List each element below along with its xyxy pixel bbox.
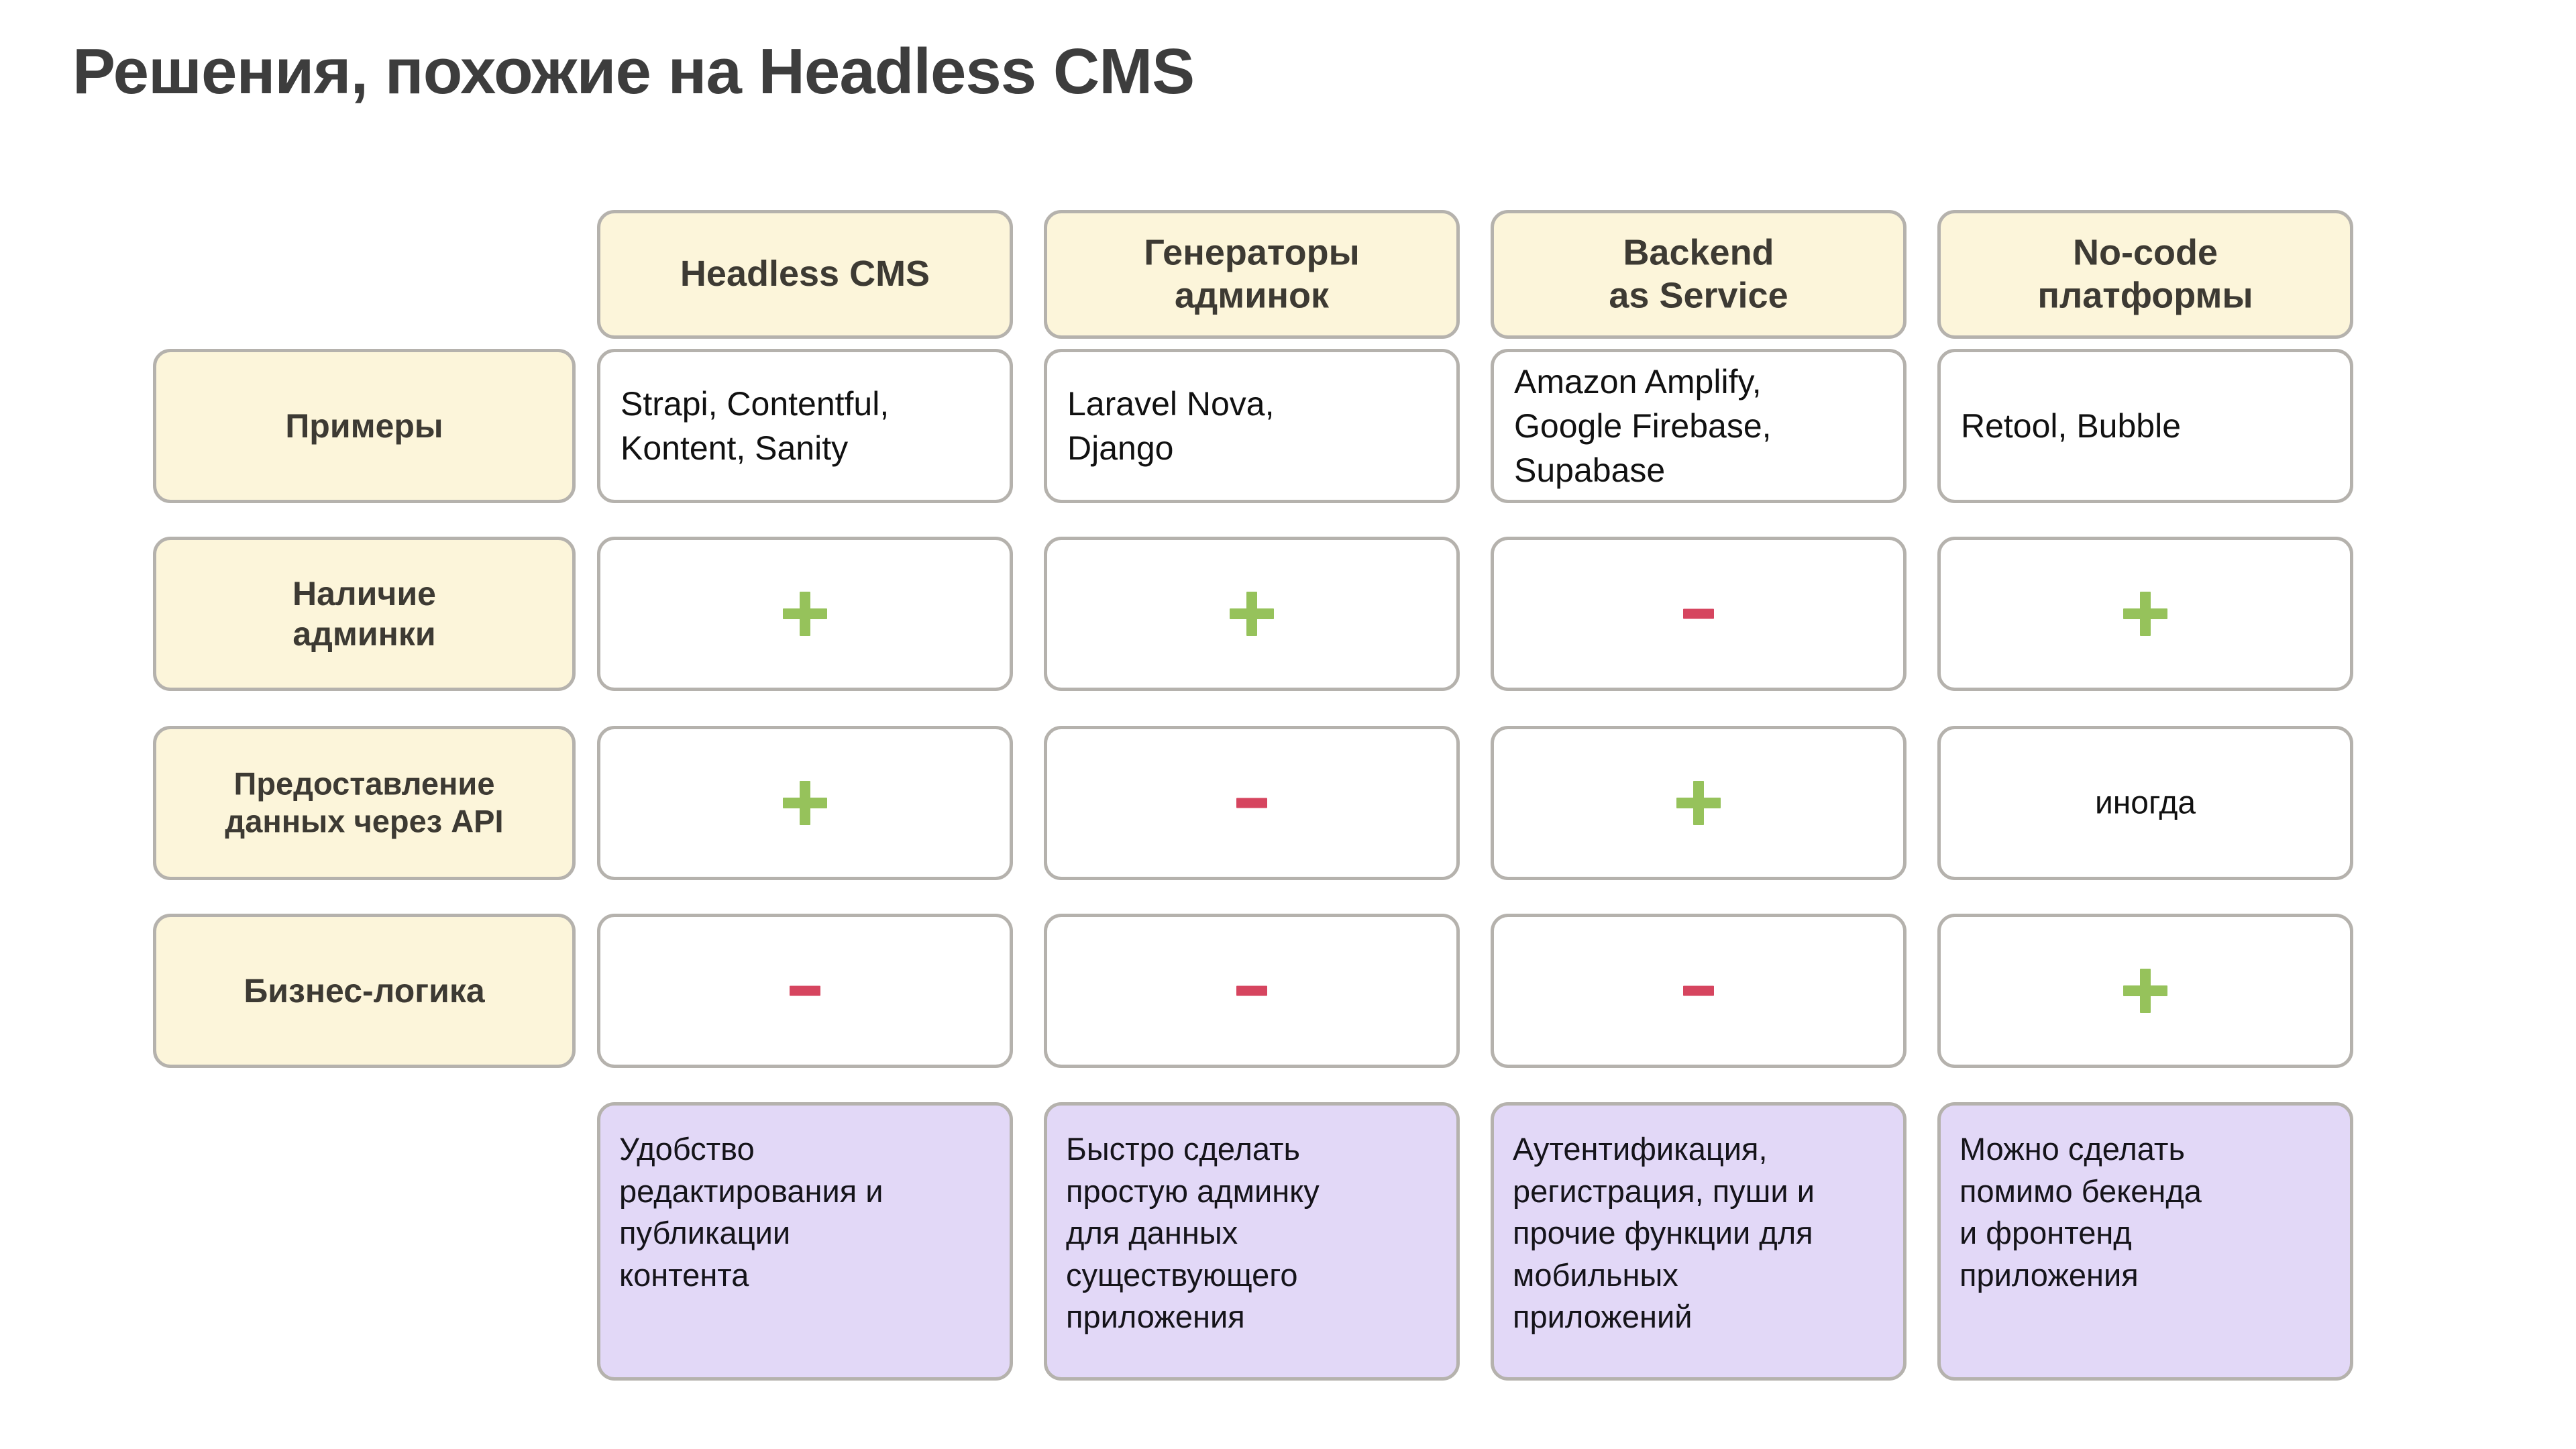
column-header-headless-cms: Headless CMS <box>597 210 1013 339</box>
column-header-label: Backend as Service <box>1494 231 1903 317</box>
row-label-text: Предоставление данных через API <box>156 765 572 841</box>
note-card-backend-as-service: Аутентификация, регистрация, пуши и проч… <box>1491 1102 1907 1381</box>
row-label-text: Примеры <box>156 406 572 446</box>
row-label-examples: Примеры <box>153 349 576 503</box>
column-header-label: Генераторы админок <box>1047 231 1456 317</box>
cell-text: Amazon Amplify, Google Firebase, Supabas… <box>1494 360 1903 492</box>
column-header-no-code: No-code платформы <box>1937 210 2353 339</box>
cell-text: иногда <box>1941 785 2350 822</box>
cell-api-data-backend-as-service <box>1491 726 1907 880</box>
note-card-text: Быстро сделать простую админку для данны… <box>1047 1128 1456 1338</box>
cell-business-logic-headless-cms <box>597 914 1013 1068</box>
plus-icon <box>783 592 827 636</box>
cell-text: Strapi, Contentful, Kontent, Sanity <box>600 382 1010 470</box>
minus-icon <box>1236 798 1267 808</box>
minus-icon <box>1236 986 1267 996</box>
minus-icon <box>1683 609 1714 619</box>
cell-business-logic-backend-as-service <box>1491 914 1907 1068</box>
minus-icon <box>790 986 820 996</box>
note-card-no-code: Можно сделать помимо бекенда и фронтенд … <box>1937 1102 2353 1381</box>
cell-examples-admin-generators: Laravel Nova, Django <box>1044 349 1460 503</box>
note-card-headless-cms: Удобство редактирования и публикации кон… <box>597 1102 1013 1381</box>
note-card-text: Аутентификация, регистрация, пуши и проч… <box>1494 1128 1903 1338</box>
row-label-api-data: Предоставление данных через API <box>153 726 576 880</box>
plus-icon <box>783 781 827 825</box>
cell-admin-panel-admin-generators <box>1044 537 1460 691</box>
cell-text: Retool, Bubble <box>1941 404 2350 448</box>
cell-business-logic-no-code <box>1937 914 2353 1068</box>
comparison-matrix: Headless CMSГенераторы админокBackend as… <box>0 0 2576 1449</box>
plus-icon <box>1676 781 1721 825</box>
cell-api-data-headless-cms <box>597 726 1013 880</box>
row-label-text: Бизнес-логика <box>156 971 572 1011</box>
slide-canvas: Решения, похожие на Headless CMS Headles… <box>0 0 2576 1449</box>
cell-api-data-no-code: иногда <box>1937 726 2353 880</box>
note-card-text: Удобство редактирования и публикации кон… <box>600 1128 1010 1296</box>
column-header-backend-as-service: Backend as Service <box>1491 210 1907 339</box>
plus-icon <box>1230 592 1274 636</box>
cell-examples-headless-cms: Strapi, Contentful, Kontent, Sanity <box>597 349 1013 503</box>
column-header-admin-generators: Генераторы админок <box>1044 210 1460 339</box>
row-label-business-logic: Бизнес-логика <box>153 914 576 1068</box>
cell-api-data-admin-generators <box>1044 726 1460 880</box>
row-label-admin-panel: Наличие админки <box>153 537 576 691</box>
cell-text: Laravel Nova, Django <box>1047 382 1456 470</box>
cell-examples-no-code: Retool, Bubble <box>1937 349 2353 503</box>
cell-admin-panel-no-code <box>1937 537 2353 691</box>
plus-icon <box>2123 592 2167 636</box>
cell-examples-backend-as-service: Amazon Amplify, Google Firebase, Supabas… <box>1491 349 1907 503</box>
minus-icon <box>1683 986 1714 996</box>
note-card-admin-generators: Быстро сделать простую админку для данны… <box>1044 1102 1460 1381</box>
cell-business-logic-admin-generators <box>1044 914 1460 1068</box>
cell-admin-panel-backend-as-service <box>1491 537 1907 691</box>
plus-icon <box>2123 969 2167 1013</box>
note-card-text: Можно сделать помимо бекенда и фронтенд … <box>1941 1128 2350 1296</box>
row-label-text: Наличие админки <box>156 574 572 654</box>
column-header-label: Headless CMS <box>600 253 1010 296</box>
cell-admin-panel-headless-cms <box>597 537 1013 691</box>
column-header-label: No-code платформы <box>1941 231 2350 317</box>
